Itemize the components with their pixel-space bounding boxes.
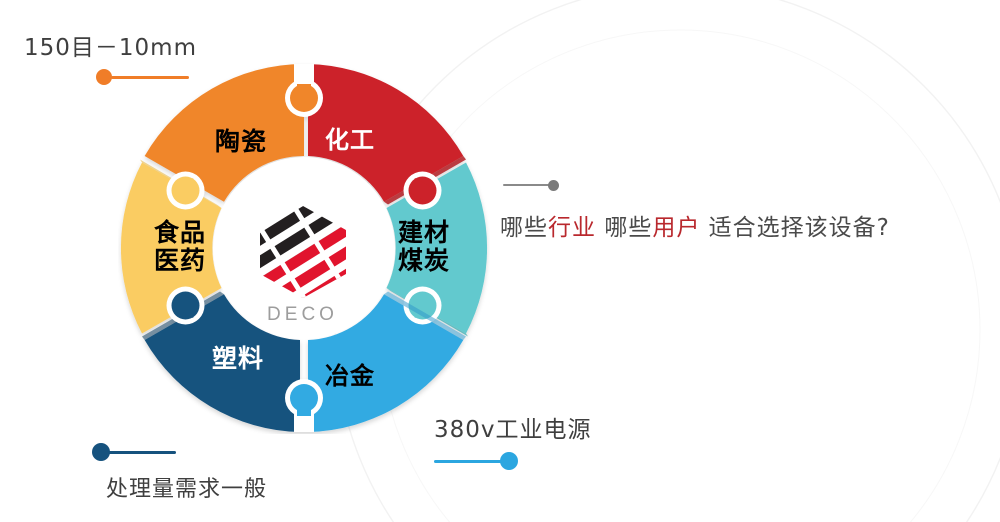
annotation-capacity-bar <box>108 451 176 454</box>
annotation-power-rule <box>434 454 592 468</box>
annotation-capacity-text: 处理量需求一般 <box>106 471 267 503</box>
question-part-2: 哪些 <box>604 215 652 241</box>
annotation-question-rule <box>503 178 890 192</box>
annotation-power-text: 380v工业电源 <box>434 410 592 444</box>
annotation-question-bar <box>503 184 549 186</box>
annotation-mesh-text: 150目－10mm <box>24 28 197 62</box>
annotation-question-text: 哪些行业 哪些用户 适合选择该设备? <box>500 208 890 242</box>
question-part-1: 哪些 <box>500 215 548 241</box>
deco-hex-logo-icon <box>255 204 351 300</box>
logo-wordmark: DECO <box>245 304 360 326</box>
annotation-power: 380v工业电源 <box>434 410 592 468</box>
annotation-question-knob <box>548 180 559 191</box>
question-highlight-industry: 行业 <box>548 215 596 241</box>
infographic-stage: 陶瓷 化工 建材 煤炭 冶金 塑料 食品 医药 <box>0 0 1000 522</box>
annotation-question: 哪些行业 哪些用户 适合选择该设备? <box>500 178 890 242</box>
annotation-capacity: 处理量需求一般 <box>88 445 267 503</box>
annotation-power-bar <box>434 460 502 463</box>
annotation-power-knob <box>500 452 518 470</box>
question-part-3: 适合选择该设备? <box>709 215 890 241</box>
annotation-mesh: 150目－10mm <box>24 28 197 84</box>
question-highlight-user: 用户 <box>652 215 700 241</box>
annotation-capacity-rule <box>92 445 267 459</box>
annotation-mesh-knob <box>96 69 112 85</box>
wheel-seam-taoci-shipin <box>167 172 205 210</box>
center-logo: DECO <box>245 204 360 334</box>
annotation-mesh-bar <box>111 76 189 79</box>
annotation-mesh-rule <box>96 70 197 84</box>
